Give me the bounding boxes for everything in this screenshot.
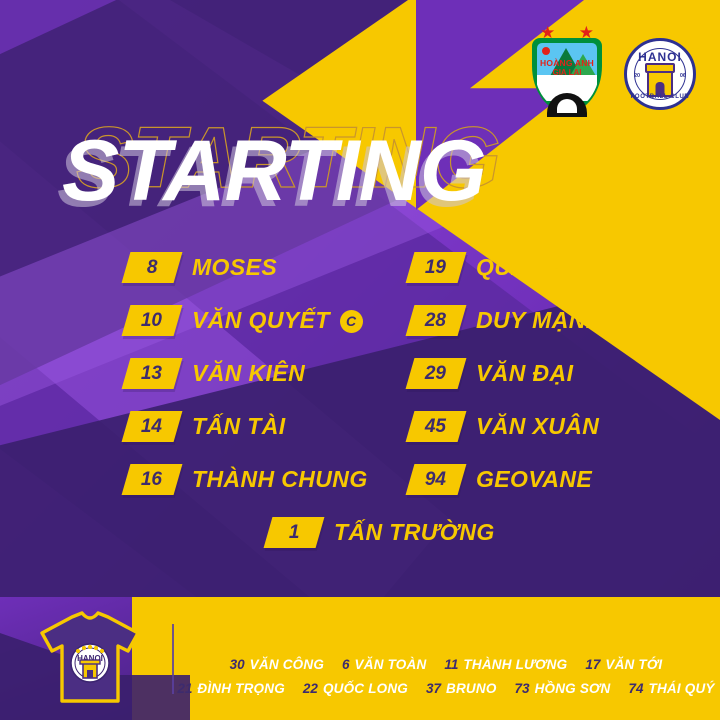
substitutes-list: 30 VĂN CÔNG 6 VĂN TOÀN 11 THÀNH LƯƠNG 17…: [186, 657, 706, 696]
hoang-anh-gia-lai-crest: ★ ★ HOÀNG ANH GIA LAI: [528, 22, 606, 114]
player-name: TẤN TÀI: [192, 413, 286, 440]
crest-club-name-line1: HOÀNG ANH: [528, 58, 606, 68]
player-entry[interactable]: 8 MOSES: [126, 252, 277, 283]
substitute-number: 74: [628, 681, 643, 696]
player-number-badge: 45: [406, 411, 467, 442]
substitute-number: 11: [444, 657, 458, 672]
player-number-badge: 19: [406, 252, 467, 283]
player-entry[interactable]: 29 VĂN ĐẠI: [410, 358, 573, 389]
club-crests: ★ ★ HOÀNG ANH GIA LAI ★ ★ ★ ★ ★ HANOI 20: [528, 22, 702, 114]
goalkeeper-row: 1 TẤN TRƯỜNG: [0, 517, 720, 571]
player-number-badge: 28: [406, 305, 467, 336]
crest-star-3: ★: [653, 24, 666, 39]
substitute-number: 21: [177, 681, 192, 696]
crest-bottom-text: FOOTBALL CLUB: [627, 94, 693, 100]
player-name: VĂN XUÂN: [476, 413, 599, 440]
player-entry[interactable]: 94 GEOVANE: [410, 464, 592, 495]
player-number-badge: 14: [122, 411, 183, 442]
lineup-row: 16 THÀNH CHUNG 94 GEOVANE: [0, 464, 720, 517]
player-name: VĂN QUYẾTC: [192, 307, 363, 334]
crest-top-text: HANOI: [627, 50, 693, 64]
player-entry[interactable]: 19 QUANG HẢI: [410, 252, 611, 283]
substitute-entry[interactable]: 37 BRUNO: [426, 681, 497, 696]
player-name: THÀNH CHUNG: [192, 466, 368, 493]
player-entry[interactable]: 45 VĂN XUÂN: [410, 411, 599, 442]
crest-club-name-line2: GIA LAI: [528, 68, 606, 77]
substitute-name: VĂN TOÀN: [355, 657, 427, 672]
player-name: VĂN ĐẠI: [476, 360, 573, 387]
title-text: STARTING: [62, 128, 486, 214]
substitute-name: ĐÌNH TRỌNG: [197, 681, 285, 696]
crest-year-left: 20: [634, 73, 640, 79]
player-number-badge: 10: [122, 305, 183, 336]
substitute-entry[interactable]: 73 HỒNG SƠN: [515, 681, 611, 696]
substitute-number: 6: [342, 657, 350, 672]
starting-lineup-graphic: ★ ★ HOÀNG ANH GIA LAI ★ ★ ★ ★ ★ HANOI 20: [0, 0, 720, 720]
lineup-row: 14 TẤN TÀI 45 VĂN XUÂN: [0, 411, 720, 464]
substitutes-row-1: 30 VĂN CÔNG 6 VĂN TOÀN 11 THÀNH LƯƠNG 17…: [186, 657, 706, 672]
substitute-number: 73: [515, 681, 530, 696]
substitute-number: 30: [230, 657, 245, 672]
player-number-badge: 94: [406, 464, 467, 495]
player-name: TẤN TRƯỜNG: [334, 519, 495, 546]
substitutes-bar: HANOI 30 VĂN CÔNG 6 VĂN: [0, 597, 720, 720]
player-name: GEOVANE: [476, 466, 592, 493]
substitute-entry[interactable]: 17 VĂN TỚI: [585, 657, 662, 672]
player-number-badge: 16: [122, 464, 183, 495]
crest-year-right: 06: [680, 73, 686, 79]
substitute-name: HỒNG SƠN: [535, 681, 611, 696]
player-entry[interactable]: 16 THÀNH CHUNG: [126, 464, 368, 495]
substitute-number: 37: [426, 681, 441, 696]
substitute-entry[interactable]: 30 VĂN CÔNG: [230, 657, 324, 672]
lineup-list: 8 MOSES 19 QUANG HẢI 10 VĂN QUYẾTC 28 DU…: [0, 252, 720, 571]
substitute-entry[interactable]: 21 ĐÌNH TRỌNG: [177, 681, 285, 696]
player-number-badge: 8: [122, 252, 183, 283]
substitute-entry[interactable]: 11 THÀNH LƯƠNG: [444, 657, 567, 672]
player-entry[interactable]: 14 TẤN TÀI: [126, 411, 286, 442]
captain-badge: C: [340, 310, 363, 333]
crest-tower-icon: [647, 67, 673, 97]
lineup-row: 10 VĂN QUYẾTC 28 DUY MẠNH: [0, 305, 720, 358]
substitute-number: 22: [303, 681, 318, 696]
page-title: STARTING STARTING STARTING: [62, 128, 622, 238]
substitute-entry[interactable]: 6 VĂN TOÀN: [342, 657, 426, 672]
substitute-name: BRUNO: [446, 681, 497, 696]
player-entry[interactable]: 13 VĂN KIÊN: [126, 358, 305, 389]
substitutes-row-2: 21 ĐÌNH TRỌNG 22 QUỐC LONG 37 BRUNO 73 H…: [186, 681, 706, 696]
lineup-row: 13 VĂN KIÊN 29 VĂN ĐẠI: [0, 358, 720, 411]
player-entry[interactable]: 10 VĂN QUYẾTC: [126, 305, 363, 336]
player-number-badge: 13: [122, 358, 183, 389]
substitute-name: VĂN CÔNG: [250, 657, 324, 672]
hanoi-fc-crest: ★ ★ ★ ★ ★ HANOI 20 06 FOOTBALL CLUB: [618, 22, 702, 114]
substitute-name: THÀNH LƯƠNG: [463, 657, 567, 672]
jersey-icon: HANOI: [38, 611, 142, 706]
player-name: VĂN KIÊN: [192, 360, 305, 387]
substitute-number: 17: [585, 657, 600, 672]
player-name-text: VĂN QUYẾT: [192, 307, 330, 333]
player-name: DUY MẠNH: [476, 307, 603, 334]
player-name: QUANG HẢI: [476, 254, 611, 281]
player-number-badge: 1: [264, 517, 325, 548]
substitute-name: THÁI QUÝ: [649, 681, 715, 696]
substitute-entry[interactable]: 22 QUỐC LONG: [303, 681, 408, 696]
player-number-badge: 29: [406, 358, 467, 389]
crest-disc: HANOI 20 06 FOOTBALL CLUB: [624, 38, 696, 110]
bar-divider: [172, 624, 174, 694]
lineup-row: 8 MOSES 19 QUANG HẢI: [0, 252, 720, 305]
player-name: MOSES: [192, 254, 277, 281]
substitute-entry[interactable]: 74 THÁI QUÝ: [628, 681, 714, 696]
player-entry[interactable]: 28 DUY MẠNH: [410, 305, 603, 336]
substitute-name: VĂN TỚI: [605, 657, 662, 672]
player-entry-goalkeeper[interactable]: 1 TẤN TRƯỜNG: [268, 517, 495, 548]
substitute-name: QUỐC LONG: [323, 681, 408, 696]
